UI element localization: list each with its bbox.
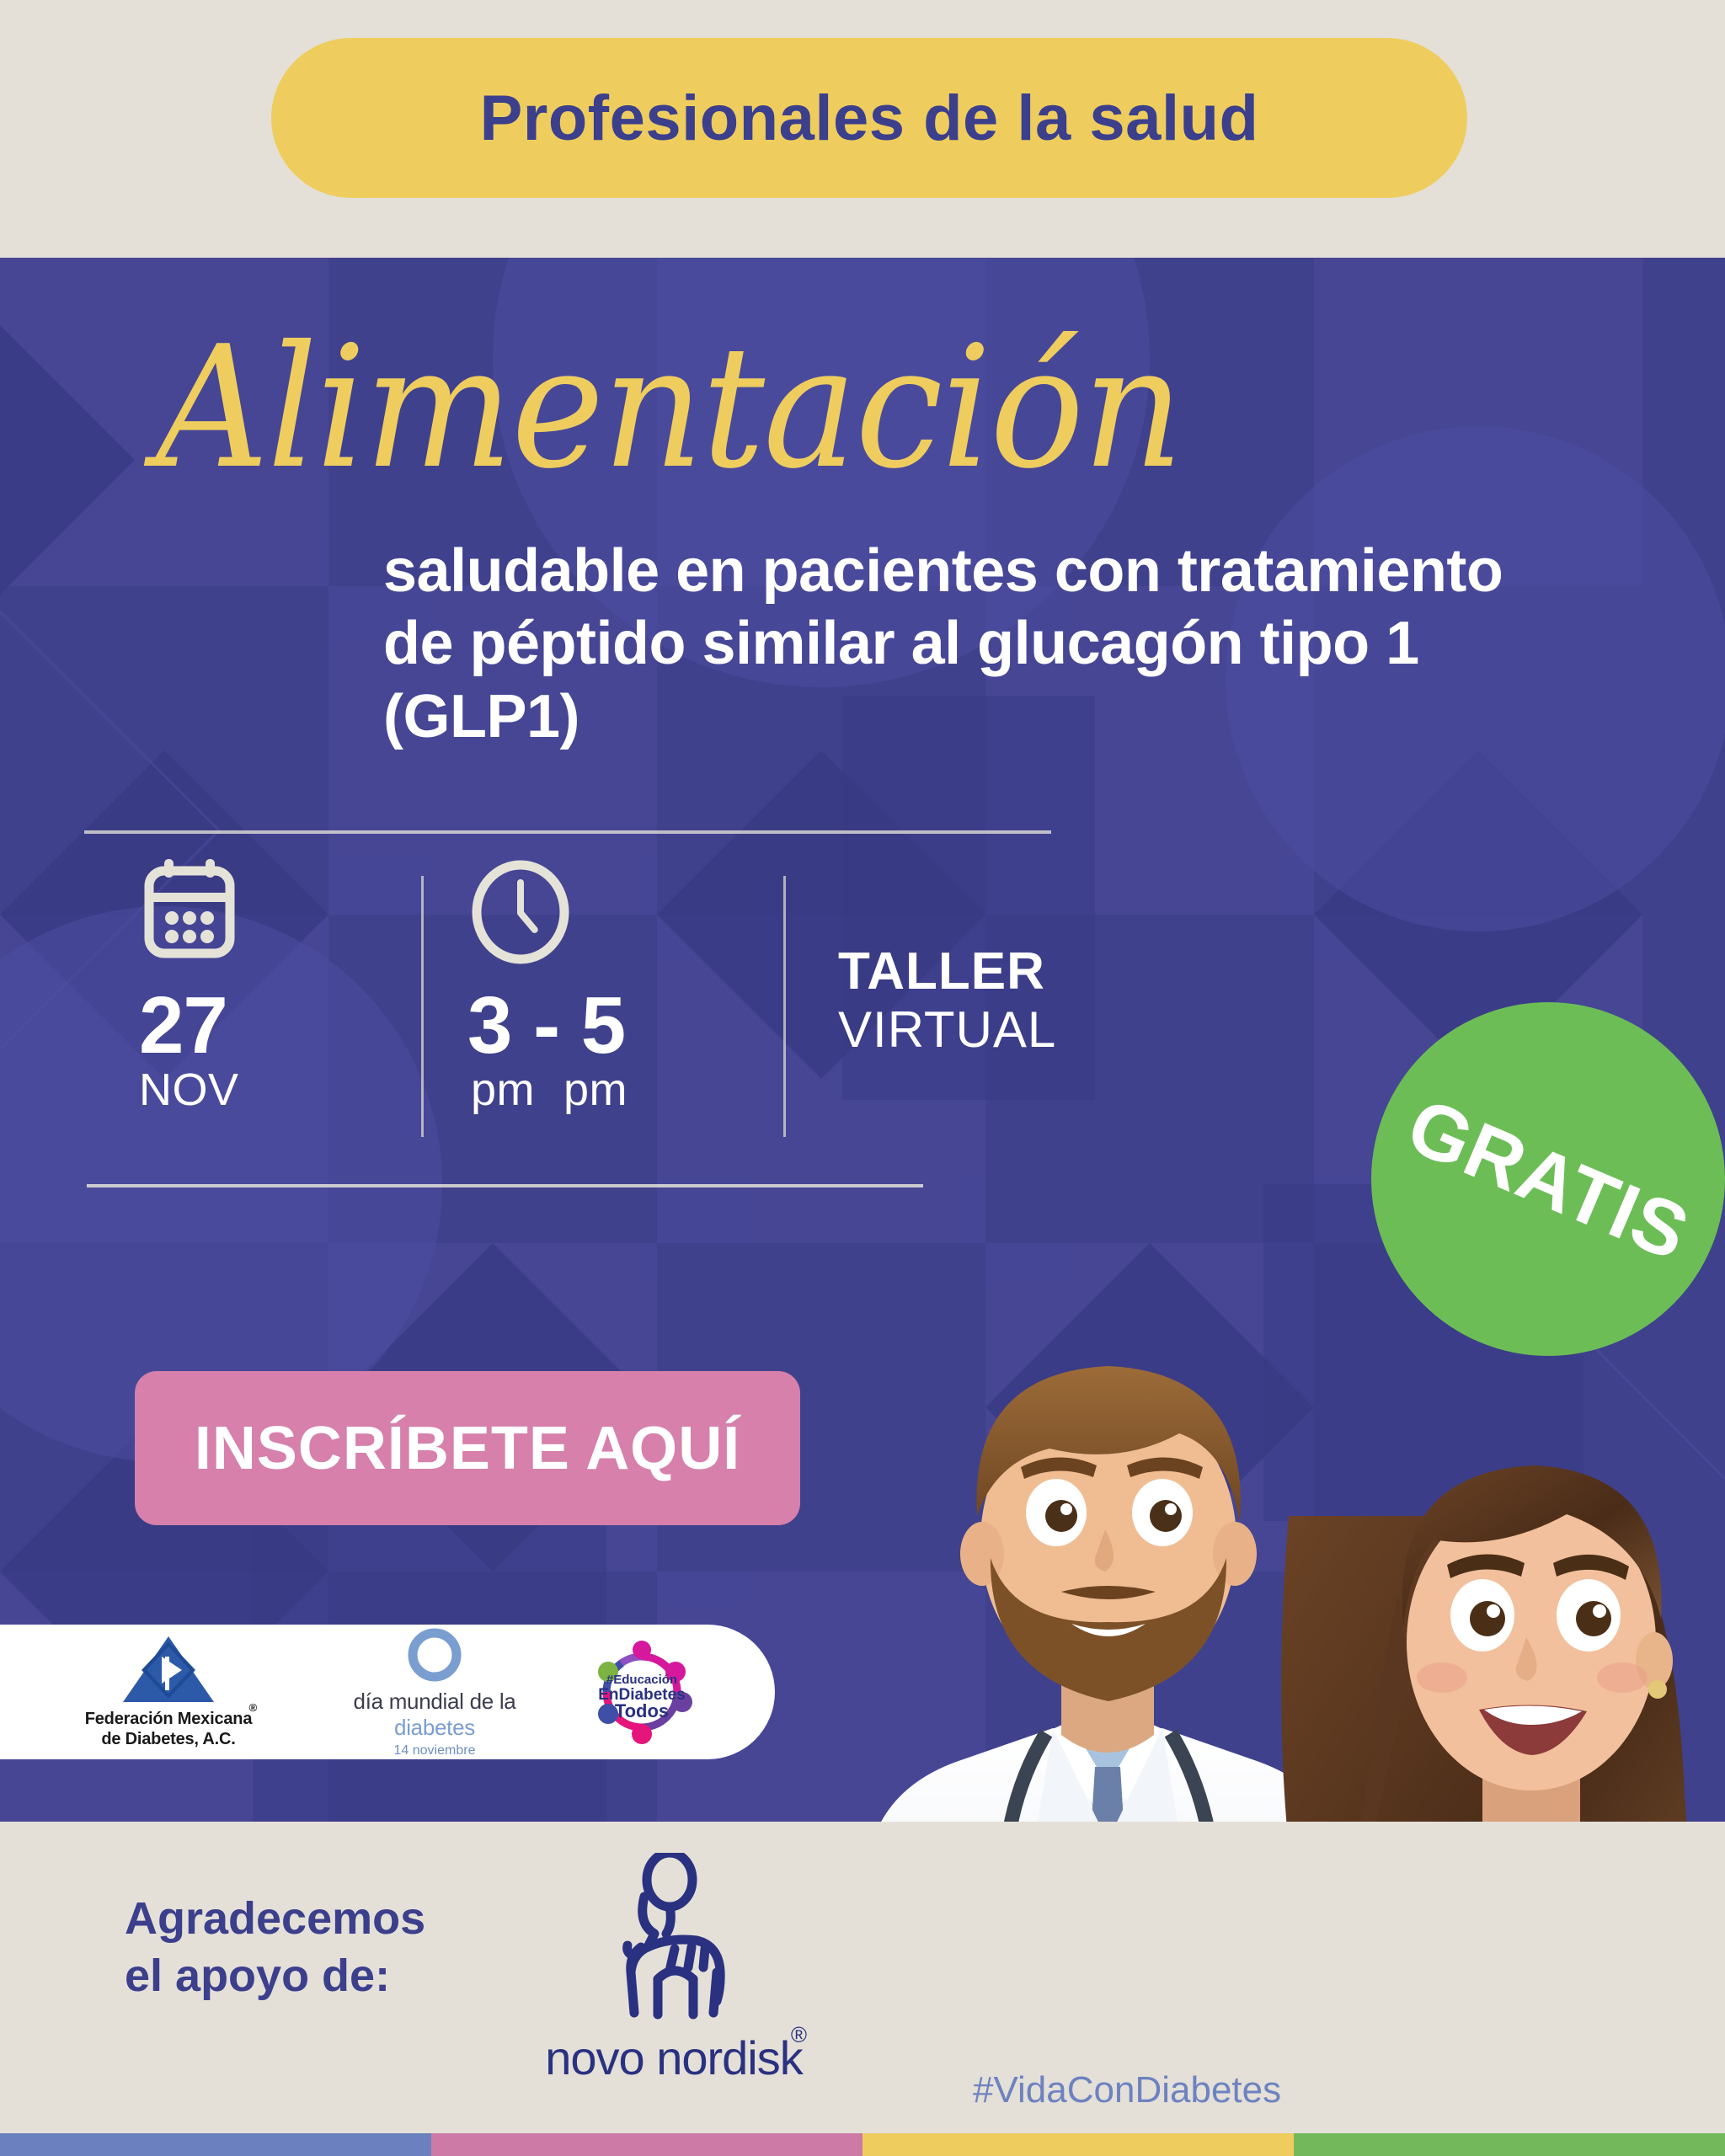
- event-modality-block: TALLER VIRTUAL: [838, 943, 1056, 1059]
- educacion-line4: Todos: [615, 1700, 669, 1721]
- divider-above-info: [84, 830, 1051, 834]
- page-title: Alimentación: [156, 324, 1252, 493]
- wdd-logo-text: día mundial de la diabetes: [317, 1689, 553, 1741]
- calendar-icon: [139, 859, 240, 969]
- educacion-circle-people-icon: #Educación EnDiabetes Todos: [588, 1638, 696, 1746]
- partner-logos-strip: Federación Mexicana ® de Diabetes, A.C. …: [0, 1625, 775, 1759]
- audience-badge-label: Profesionales de la salud: [480, 82, 1259, 155]
- divider-below-info: [87, 1184, 923, 1187]
- sponsor-thanks-line1: Agradecemos: [125, 1891, 487, 1948]
- novo-nordisk-wordmark: novo nordisk: [531, 2031, 817, 2085]
- info-separator-1: [421, 876, 424, 1137]
- wdd-logo-date: 14 noviembre: [317, 1743, 553, 1758]
- stripe-pink: [431, 2133, 862, 2156]
- logo-dia-mundial-de-la-diabetes: día mundial de la diabetes 14 noviembre: [317, 1625, 553, 1758]
- apis-bull-icon: [585, 1853, 762, 2025]
- page-subtitle: saludable en pacientes con tratamiento d…: [383, 535, 1503, 753]
- registered-trademark-icon-sponsor: ®: [791, 2022, 807, 2048]
- event-modality-format: VIRTUAL: [838, 1001, 1056, 1059]
- registered-trademark-icon: ®: [249, 1701, 258, 1714]
- event-month: NOV: [139, 1064, 240, 1116]
- campaign-hashtag: #VidaConDiabetes: [973, 2069, 1281, 2111]
- register-button-label: INSCRÍBETE AQUÍ: [195, 1414, 740, 1483]
- educacion-line1: #Educación: [606, 1673, 677, 1687]
- sponsor-thanks-text: Agradecemos el apoyo de:: [125, 1891, 487, 2004]
- stripe-yellow: [862, 2133, 1294, 2156]
- event-time-unit-start: pm: [471, 1064, 535, 1116]
- event-time-unit-end: pm: [563, 1064, 628, 1116]
- event-day: 27: [139, 987, 240, 1064]
- federacion-logo-line1: Federación Mexicana: [85, 1710, 253, 1730]
- logo-educacion-en-diabetes-para-todos: #Educación EnDiabetes Todos: [583, 1638, 701, 1746]
- info-separator-2: [783, 876, 786, 1137]
- event-time-range: 3 - 5: [467, 987, 628, 1064]
- stripe-green: [1294, 2133, 1725, 2156]
- blue-circle-icon: [405, 1625, 464, 1684]
- logo-federacion-mexicana-de-diabetes: Federación Mexicana ® de Diabetes, A.C.: [67, 1635, 270, 1749]
- bottom-color-stripes: [0, 2133, 1725, 2156]
- clock-icon: [467, 859, 628, 969]
- sponsor-thanks-line2: el apoyo de:: [125, 1948, 487, 2005]
- stripe-blue: [0, 2133, 431, 2156]
- federacion-triangle-icon: [121, 1635, 216, 1705]
- header-band: Profesionales de la salud: [0, 0, 1725, 258]
- event-modality-type: TALLER: [838, 943, 1056, 1001]
- poster-canvas: Profesionales de la salud: [0, 0, 1725, 2156]
- audience-badge: Profesionales de la salud: [271, 38, 1467, 198]
- novo-nordisk-logo: novo nordisk ®: [531, 1853, 817, 2085]
- event-time-block: 3 - 5 pm pm: [467, 859, 628, 1116]
- event-date-block: 27 NOV: [139, 859, 240, 1116]
- register-button[interactable]: INSCRÍBETE AQUÍ: [135, 1371, 800, 1525]
- federacion-logo-line2: de Diabetes, A.C.: [85, 1730, 253, 1750]
